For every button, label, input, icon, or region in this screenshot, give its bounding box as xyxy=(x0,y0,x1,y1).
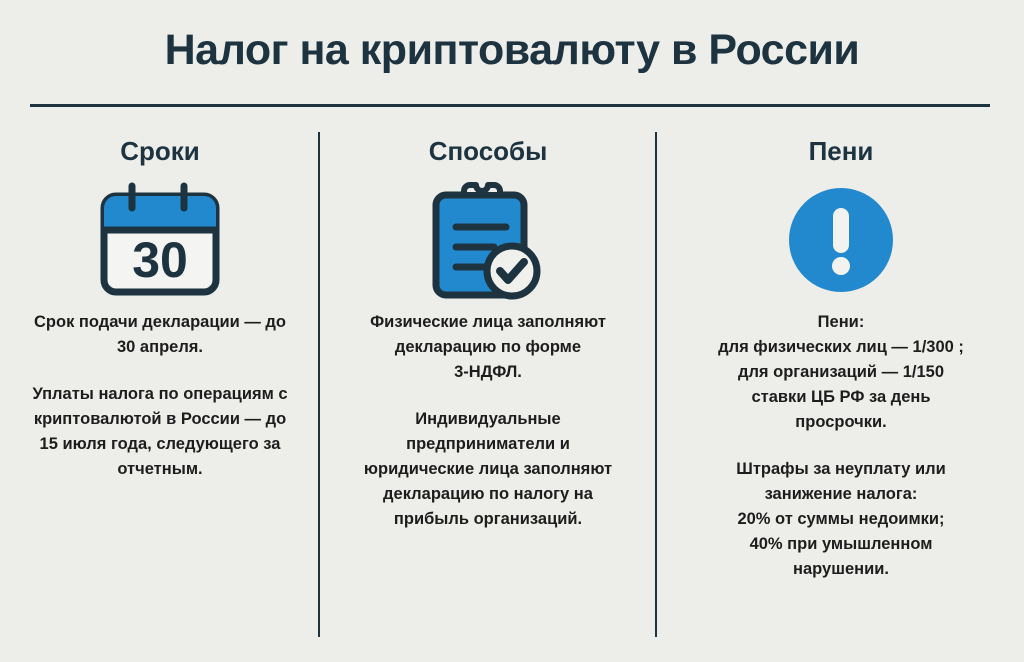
paragraph: Индивидуальные предприниматели и юридиче… xyxy=(328,407,648,532)
column-heading-methods: Способы xyxy=(328,134,648,168)
column-methods: Способы Физические лица заполняют деклар… xyxy=(328,120,648,554)
clipboard-check-icon xyxy=(428,179,548,301)
column-heading-deadlines: Сроки xyxy=(8,134,312,168)
column-penalties: Пени Пени: для физических лиц — 1/300 ; … xyxy=(665,120,1017,604)
column-divider-2 xyxy=(655,132,657,637)
column-heading-penalties: Пени xyxy=(665,134,1017,168)
icon-slot-deadlines: 30 xyxy=(8,174,312,306)
page-title: Налог на криптовалюту в России xyxy=(0,20,1024,80)
text-block-methods: Физические лица заполняют декларацию по … xyxy=(328,310,648,532)
paragraph: Физические лица заполняют декларацию по … xyxy=(328,310,648,385)
icon-slot-methods xyxy=(328,174,648,306)
paragraph: Уплаты налога по операциям с криптовалют… xyxy=(8,382,312,482)
column-deadlines: Сроки 30 Срок подачи декларации — до 30 … xyxy=(8,120,312,504)
column-divider-1 xyxy=(318,132,320,637)
calendar-day-number: 30 xyxy=(132,232,188,288)
paragraph: Пени: для физических лиц — 1/300 ; для о… xyxy=(665,310,1017,435)
icon-slot-penalties xyxy=(665,174,1017,306)
header: Налог на криптовалюту в России xyxy=(0,0,1024,108)
text-block-deadlines: Срок подачи декларации — до 30 апреля. У… xyxy=(8,310,312,482)
paragraph: Штрафы за неуплату или занижение налога:… xyxy=(665,457,1017,582)
text-block-penalties: Пени: для физических лиц — 1/300 ; для о… xyxy=(665,310,1017,582)
title-divider-rule xyxy=(30,104,990,107)
columns-container: Сроки 30 Срок подачи декларации — до 30 … xyxy=(0,120,1024,662)
calendar-30-icon: 30 xyxy=(92,182,228,298)
exclamation-circle-icon xyxy=(787,186,895,294)
paragraph: Срок подачи декларации — до 30 апреля. xyxy=(8,310,312,360)
